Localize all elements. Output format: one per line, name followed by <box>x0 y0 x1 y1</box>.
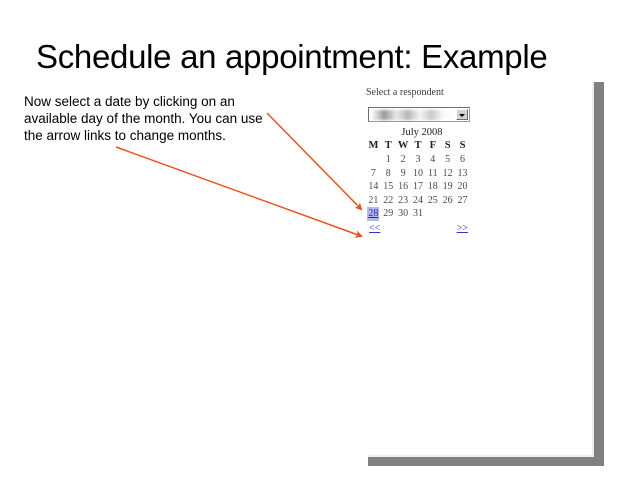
calendar-day <box>455 207 470 221</box>
calendar-day: 23 <box>396 194 411 208</box>
page-title: Schedule an appointment: Example <box>36 36 608 78</box>
calendar-day: 1 <box>381 153 396 167</box>
calendar-week-row: 14 15 16 17 18 19 20 <box>366 180 470 194</box>
calendar-month-title: July 2008 <box>366 126 470 139</box>
calendar-day <box>366 153 381 167</box>
calendar-day: 9 <box>396 167 411 181</box>
calendar-day: 15 <box>381 180 396 194</box>
calendar-day: 8 <box>381 167 396 181</box>
calendar-day: 6 <box>455 153 470 167</box>
calendar-day: 20 <box>455 180 470 194</box>
respondent-select-value <box>371 110 455 120</box>
calendar-weekday: W <box>396 139 411 153</box>
calendar-day: 25 <box>425 194 440 208</box>
respondent-select[interactable] <box>368 107 470 122</box>
calendar-week-row: 7 8 9 10 11 12 13 <box>366 167 470 181</box>
arrow-to-day-grid <box>267 113 361 209</box>
calendar-next-month-link[interactable]: >> <box>457 223 468 234</box>
calendar-day: 3 <box>411 153 426 167</box>
calendar-weekday-header: M T W T F S S <box>366 139 470 153</box>
calendar-day: 30 <box>396 207 411 221</box>
calendar-prev-month-link[interactable]: << <box>369 223 380 234</box>
instruction-text: Now select a date by clicking on an avai… <box>24 93 264 144</box>
calendar-weekday: S <box>440 139 455 153</box>
calendar-day: 19 <box>440 180 455 194</box>
calendar-day: 17 <box>411 180 426 194</box>
calendar-table: M T W T F S S 1 2 3 4 5 6 <box>366 139 470 221</box>
calendar-week-row: 21 22 23 24 25 26 27 <box>366 194 470 208</box>
calendar-day: 2 <box>396 153 411 167</box>
calendar-day: 31 <box>411 207 426 221</box>
calendar-day: 11 <box>425 167 440 181</box>
calendar-day: 18 <box>425 180 440 194</box>
calendar-weekday: F <box>425 139 440 153</box>
calendar-day <box>425 207 440 221</box>
calendar-weekday: S <box>455 139 470 153</box>
slide-shadow-bottom <box>368 457 604 466</box>
calendar-weekday: M <box>366 139 381 153</box>
calendar-day: 27 <box>455 194 470 208</box>
calendar-day-selected[interactable]: 28 <box>366 207 381 221</box>
calendar-weekday: T <box>381 139 396 153</box>
calendar-day: 7 <box>366 167 381 181</box>
calendar-day: 12 <box>440 167 455 181</box>
calendar-day-selected-label: 28 <box>367 207 379 221</box>
calendar-nav: << >> <box>366 223 470 237</box>
calendar-day: 21 <box>366 194 381 208</box>
slide-canvas: Schedule an appointment: Example Now sel… <box>0 0 640 480</box>
calendar-day: 14 <box>366 180 381 194</box>
slide-shadow-right <box>594 82 604 463</box>
calendar-day: 26 <box>440 194 455 208</box>
calendar-day: 29 <box>381 207 396 221</box>
calendar-day: 10 <box>411 167 426 181</box>
chevron-down-icon[interactable] <box>456 109 468 120</box>
calendar-day <box>440 207 455 221</box>
calendar-day: 13 <box>455 167 470 181</box>
calendar-week-row: 28 29 30 31 <box>366 207 470 221</box>
calendar-widget: July 2008 M T W T F S S 1 2 3 <box>366 126 470 237</box>
calendar-day: 22 <box>381 194 396 208</box>
calendar-day: 16 <box>396 180 411 194</box>
calendar-weekday: T <box>411 139 426 153</box>
calendar-day: 4 <box>425 153 440 167</box>
calendar-day: 5 <box>440 153 455 167</box>
respondent-label: Select a respondent <box>366 87 444 98</box>
arrow-to-month-links <box>116 147 361 236</box>
calendar-day: 24 <box>411 194 426 208</box>
calendar-week-row: 1 2 3 4 5 6 <box>366 153 470 167</box>
